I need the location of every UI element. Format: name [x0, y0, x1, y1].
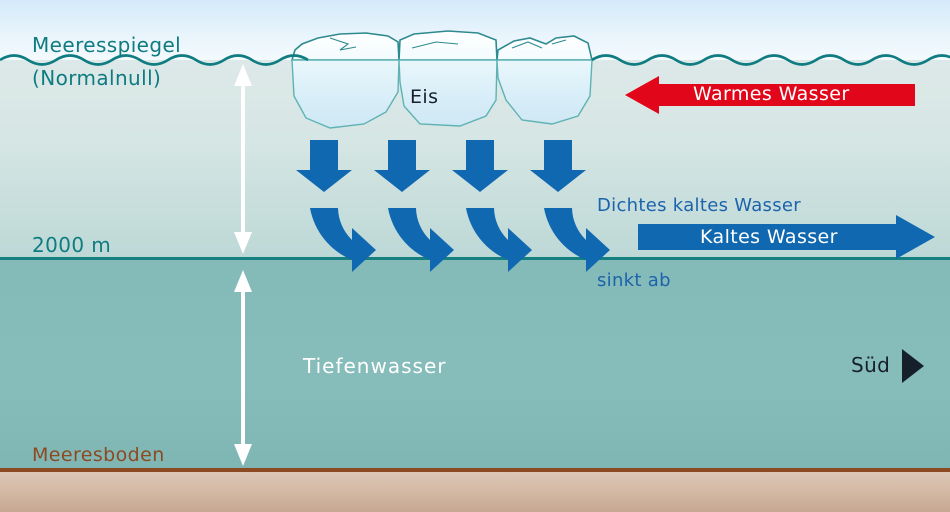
label-sea-level: Meeresspiegel — [32, 33, 181, 57]
label-deep-water: Tiefenwasser — [303, 354, 446, 378]
south-direction-triangle-icon — [902, 349, 924, 383]
ocean-circulation-diagram: Warmes Wasser Kaltes Wasser Meeresspiege… — [0, 0, 950, 512]
label-dense-cold-water-line1: Dichtes kaltes Wasser — [597, 193, 801, 218]
label-dense-cold-water-line2: sinkt ab — [597, 268, 801, 293]
label-seafloor: Meeresboden — [32, 444, 165, 466]
warm-water-label: Warmes Wasser — [693, 83, 850, 105]
label-dense-cold-water: Dichtes kaltes Wasser sinkt ab — [597, 143, 801, 343]
label-south: Süd — [851, 353, 890, 377]
label-sea-level-sub: (Normalnull) — [32, 66, 161, 90]
depth-arrow-surface-to-2000 — [234, 64, 252, 254]
depth-arrow-2000-to-seafloor — [234, 270, 252, 466]
label-depth-2000m: 2000 m — [32, 233, 111, 257]
label-ice: Eis — [410, 86, 438, 108]
